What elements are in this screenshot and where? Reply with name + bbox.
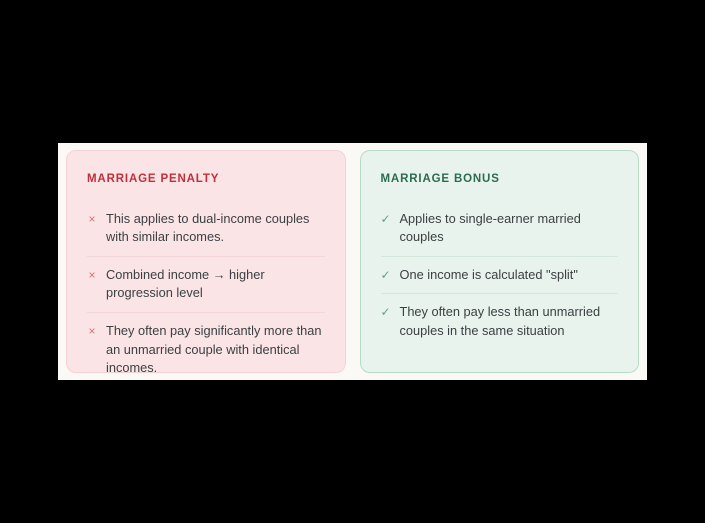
penalty-list: × This applies to dual-income couples wi… (87, 201, 325, 387)
list-item: ✓ Applies to single-earner married coupl… (381, 201, 619, 256)
list-item: × They often pay significantly more than… (87, 312, 325, 387)
x-mark-icon: × (87, 266, 97, 285)
list-item-text: Combined income → higher progression lev… (106, 266, 325, 303)
list-item: ✓ One income is calculated "split" (381, 256, 619, 294)
list-item-text: This applies to dual-income couples with… (106, 210, 325, 247)
card-title-marriage-bonus: MARRIAGE BONUS (381, 173, 619, 187)
card-marriage-bonus: MARRIAGE BONUS ✓ Applies to single-earne… (360, 150, 640, 373)
list-item: ✓ They often pay less than unmarried cou… (381, 293, 619, 349)
bonus-list: ✓ Applies to single-earner married coupl… (381, 201, 619, 350)
list-item: × This applies to dual-income couples wi… (87, 201, 325, 256)
card-marriage-penalty: MARRIAGE PENALTY × This applies to dual-… (66, 150, 346, 373)
card-title-marriage-penalty: MARRIAGE PENALTY (87, 173, 325, 187)
check-mark-icon: ✓ (381, 303, 391, 322)
list-item: × Combined income → higher progression l… (87, 256, 325, 312)
x-mark-icon: × (87, 210, 97, 229)
list-item-text: Applies to single-earner married couples (400, 210, 619, 247)
comparison-panel: MARRIAGE PENALTY × This applies to dual-… (58, 143, 647, 380)
list-item-text: They often pay less than unmarried coupl… (400, 303, 619, 340)
list-item-text: They often pay significantly more than a… (106, 322, 325, 378)
check-mark-icon: ✓ (381, 210, 391, 229)
screenshot-stage: MARRIAGE PENALTY × This applies to dual-… (0, 0, 705, 523)
x-mark-icon: × (87, 322, 97, 341)
check-mark-icon: ✓ (381, 266, 391, 285)
list-item-text: One income is calculated "split" (400, 266, 619, 285)
